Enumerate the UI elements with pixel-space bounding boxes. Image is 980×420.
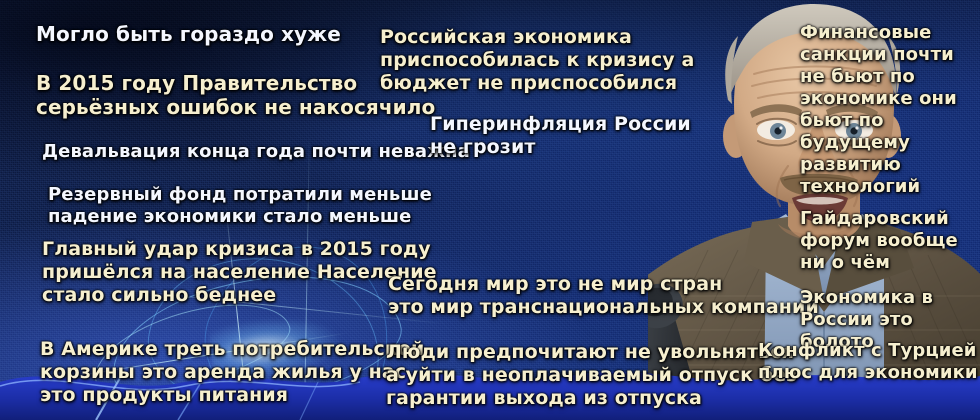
quote-right-4: Конфликт с Турцией плюс для экономики <box>758 340 978 384</box>
quote-center-1: Российская экономика приспособилась к кр… <box>380 26 694 96</box>
quote-center-2: Гиперинфляция России не грозит <box>430 113 691 159</box>
quote-collage-image: Могло быть гораздо хуже В 2015 году Прав… <box>0 0 980 420</box>
quote-right-1: Финансовые санкции почти не бьют по экон… <box>800 22 980 198</box>
quote-left-3: Девальвация конца года почти неважна <box>42 141 470 163</box>
quote-left-1: Могло быть гораздо хуже <box>36 22 341 46</box>
quote-center-4: Люди предпочитают не увольняться а уйти … <box>386 341 797 411</box>
quote-left-4: Резервный фонд потратили меньше падение … <box>48 184 432 228</box>
quote-left-2: В 2015 году Правительство серьёзных ошиб… <box>36 71 435 120</box>
quote-center-3: Сегодня мир это не мир стран это мир тра… <box>388 273 819 319</box>
quote-right-2: Гайдаровский форум вообще ни о чём <box>800 208 958 274</box>
quote-left-5: Главный удар кризиса в 2015 году пришёлс… <box>42 238 437 308</box>
quote-left-6: В Америке треть потребительской корзины … <box>40 338 424 408</box>
